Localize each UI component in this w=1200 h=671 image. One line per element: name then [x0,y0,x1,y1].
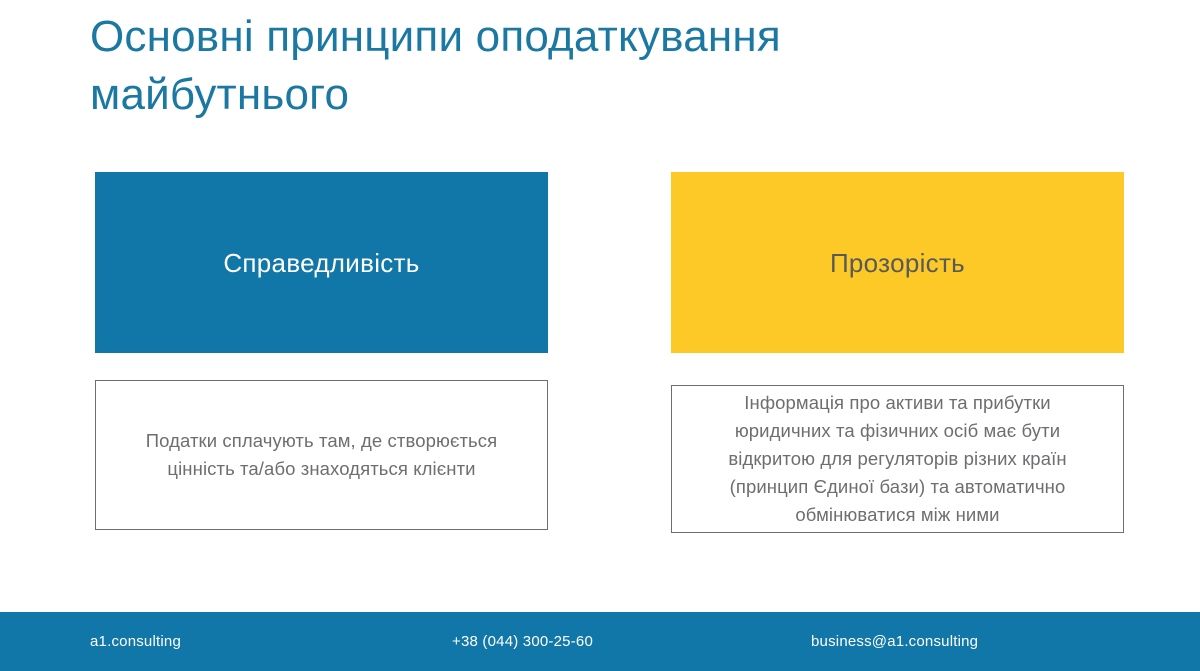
principle-description-box-transparency: Інформація про активи та прибутки юридич… [671,385,1124,533]
footer-email[interactable]: business@a1.consulting [811,632,978,652]
principle-header-card-fairness: Справедливість [95,172,548,353]
footer-bar: a1.consulting +38 (044) 300-25-60 busine… [0,612,1200,671]
principle-description-box-fairness: Податки сплачують там, де створюється ці… [95,380,548,530]
footer-phone[interactable]: +38 (044) 300-25-60 [452,632,593,652]
principle-column-fairness: Справедливість Податки сплачують там, де… [95,172,548,353]
footer-website[interactable]: a1.consulting [90,632,181,652]
page-title: Основні принципи оподаткування майбутньо… [90,8,970,124]
principle-description-text-fairness: Податки сплачують там, де створюється ці… [146,427,498,483]
principle-header-label-fairness: Справедливість [223,247,419,279]
principle-column-transparency: Прозорість Інформація про активи та приб… [671,172,1124,353]
principle-header-card-transparency: Прозорість [671,172,1124,353]
slide-canvas: Основні принципи оподаткування майбутньо… [0,0,1200,671]
principle-header-label-transparency: Прозорість [830,247,965,279]
principle-description-text-transparency: Інформація про активи та прибутки юридич… [728,389,1066,529]
